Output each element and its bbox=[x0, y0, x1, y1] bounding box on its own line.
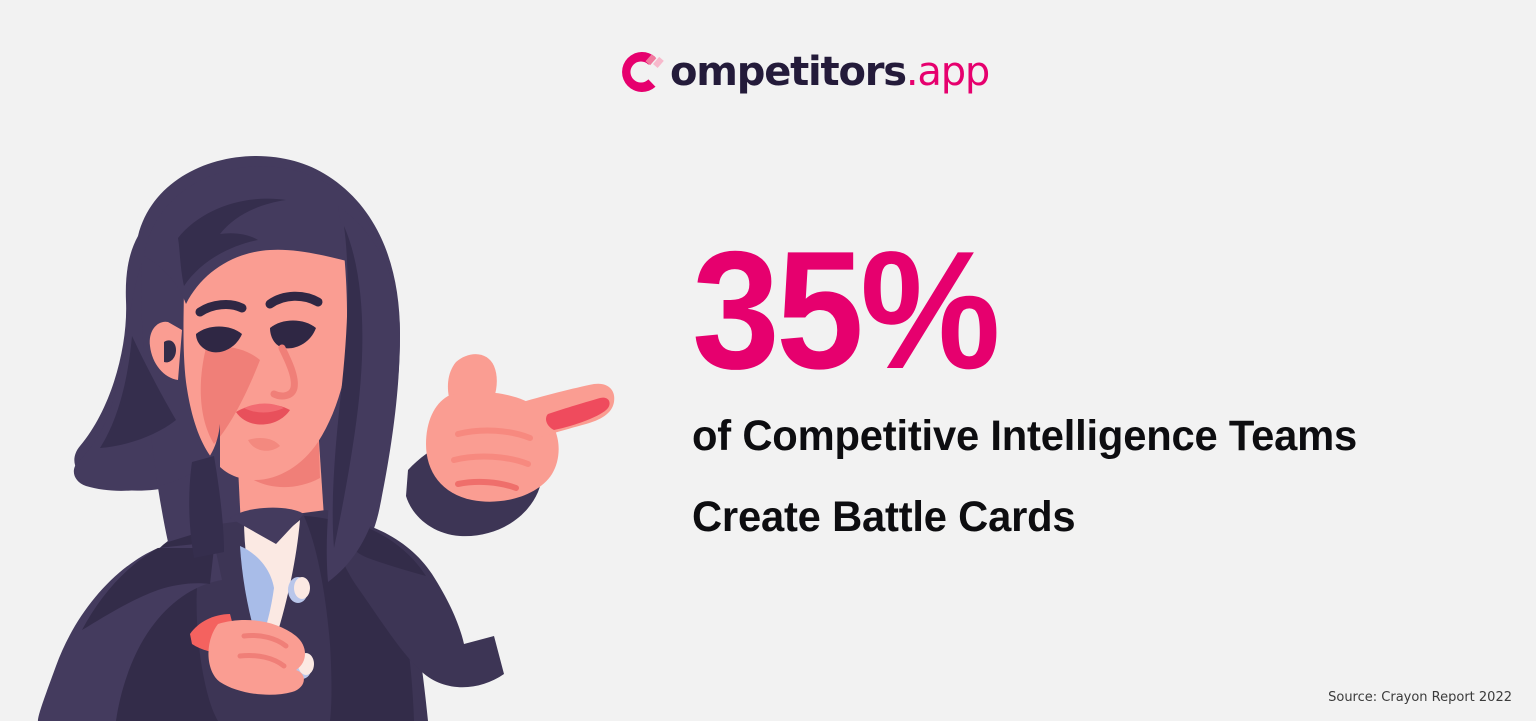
woman-pointing-illustration bbox=[8, 96, 628, 721]
stat-copy-block: 35% of Competitive Intelligence Teams Cr… bbox=[692, 228, 1492, 539]
competitors-c-mark-icon bbox=[614, 45, 668, 99]
brand-wordmark: ompetitors.app bbox=[670, 52, 989, 92]
wordmark-dark-part: ompetitors bbox=[670, 49, 906, 95]
headline-line-1: of Competitive Intelligence Teams bbox=[692, 415, 1468, 458]
infographic-canvas: ompetitors.app bbox=[0, 0, 1536, 721]
blazer-button-upper-highlight bbox=[294, 577, 310, 599]
pointing-hand bbox=[426, 354, 614, 502]
wordmark-pink-part: .app bbox=[906, 49, 989, 95]
brand-logo[interactable]: ompetitors.app bbox=[614, 44, 989, 100]
source-attribution: Source: Crayon Report 2022 bbox=[1328, 690, 1512, 705]
stat-value: 35% bbox=[692, 228, 1444, 393]
headline-line-2: Create Battle Cards bbox=[692, 496, 1468, 539]
